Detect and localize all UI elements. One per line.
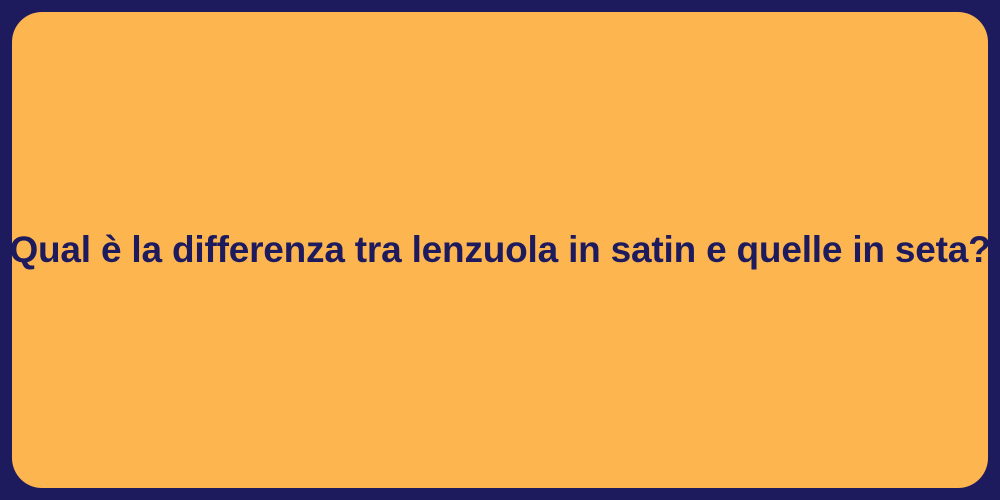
banner-panel: Qual è la differenza tra lenzuola in sat… [12, 12, 988, 488]
banner-heading: Qual è la differenza tra lenzuola in sat… [9, 227, 990, 273]
banner-frame: Qual è la differenza tra lenzuola in sat… [0, 0, 1000, 500]
